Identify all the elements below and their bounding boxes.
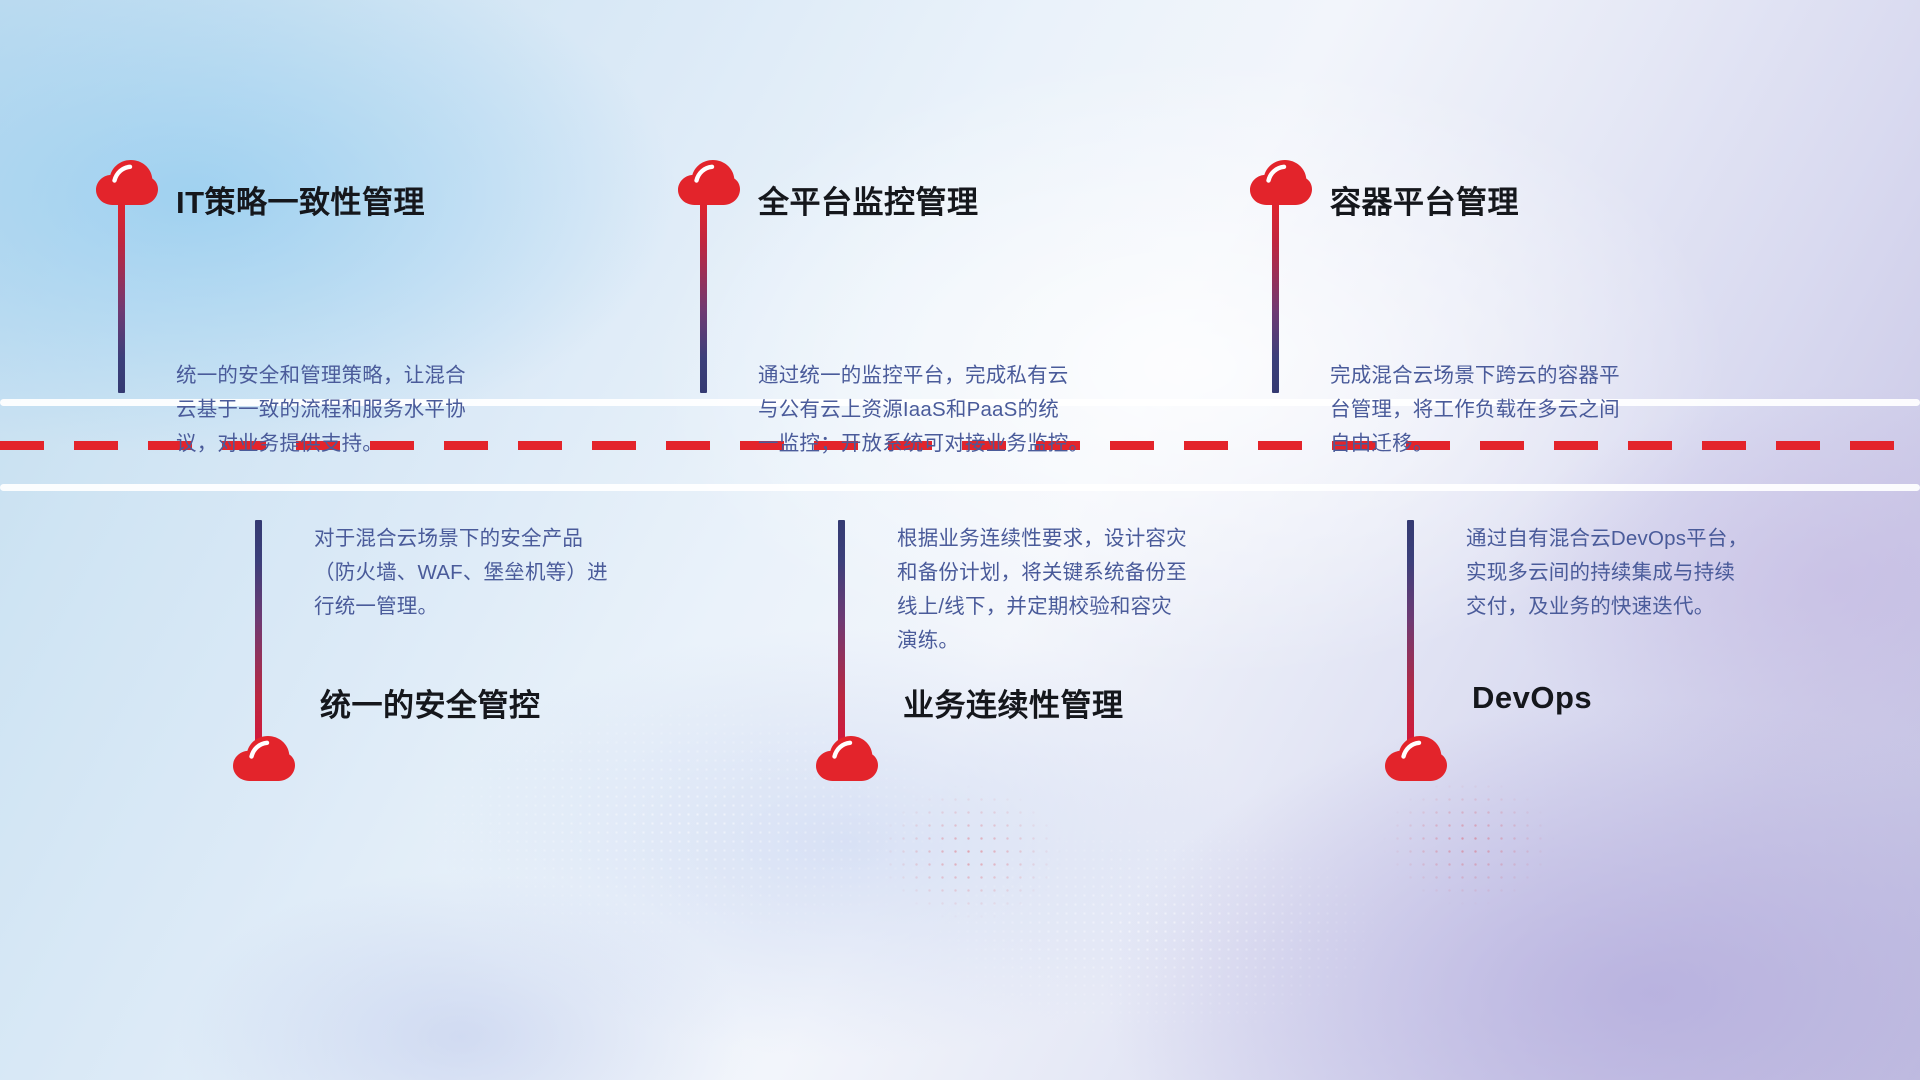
cloud-icon xyxy=(1250,160,1312,206)
connector-stem xyxy=(1272,200,1279,393)
feature-title: 统一的安全管控 xyxy=(320,680,541,725)
feature-description: 通过自有混合云DevOps平台， 实现多云间的持续集成与持续 交付，及业务的快速… xyxy=(1466,522,1886,624)
connector-stem xyxy=(118,200,125,393)
cloud-icon xyxy=(816,736,878,782)
feature-top-1[interactable]: IT策略一致性管理 统一的安全和管理策略，让混合 云基于一致的流程和服务水平协 … xyxy=(0,0,640,400)
cloud-icon xyxy=(1385,736,1447,782)
cloud-icon xyxy=(96,160,158,206)
feature-description: 对于混合云场景下的安全产品 （防火墙、WAF、堡垒机等）进 行统一管理。 xyxy=(314,522,714,624)
feature-description: 统一的安全和管理策略，让混合 云基于一致的流程和服务水平协 议，对业务提供支持。 xyxy=(176,359,616,461)
feature-title: 全平台监控管理 xyxy=(758,177,979,222)
feature-description: 根据业务连续性要求，设计容灾 和备份计划，将关键系统备份至 线上/线下，并定期校… xyxy=(897,522,1317,658)
connector-stem xyxy=(700,200,707,393)
feature-title: DevOps xyxy=(1472,680,1592,716)
connector-stem xyxy=(1407,520,1414,742)
connector-stem xyxy=(255,520,262,742)
feature-bottom-3[interactable]: 通过自有混合云DevOps平台， 实现多云间的持续集成与持续 交付，及业务的快速… xyxy=(1300,490,1920,800)
feature-title: 容器平台管理 xyxy=(1330,177,1519,222)
feature-title: 业务连续性管理 xyxy=(903,680,1124,725)
feature-description: 通过统一的监控平台，完成私有云 与公有云上资源IaaS和PaaS的统 一监控；开… xyxy=(758,359,1208,461)
cloud-icon xyxy=(233,736,295,782)
feature-description: 完成混合云场景下跨云的容器平 台管理，将工作负载在多云之间 自由迁移。 xyxy=(1330,359,1770,461)
cloud-icon xyxy=(678,160,740,206)
feature-bottom-1[interactable]: 对于混合云场景下的安全产品 （防火墙、WAF、堡垒机等）进 行统一管理。 统一的… xyxy=(0,490,680,800)
connector-stem xyxy=(838,520,845,742)
feature-top-3[interactable]: 容器平台管理 完成混合云场景下跨云的容器平 台管理，将工作负载在多云之间 自由迁… xyxy=(1200,0,1920,400)
feature-top-2[interactable]: 全平台监控管理 通过统一的监控平台，完成私有云 与公有云上资源IaaS和PaaS… xyxy=(640,0,1200,400)
feature-title: IT策略一致性管理 xyxy=(176,177,425,222)
feature-bottom-2[interactable]: 根据业务连续性要求，设计容灾 和备份计划，将关键系统备份至 线上/线下，并定期校… xyxy=(680,490,1300,800)
